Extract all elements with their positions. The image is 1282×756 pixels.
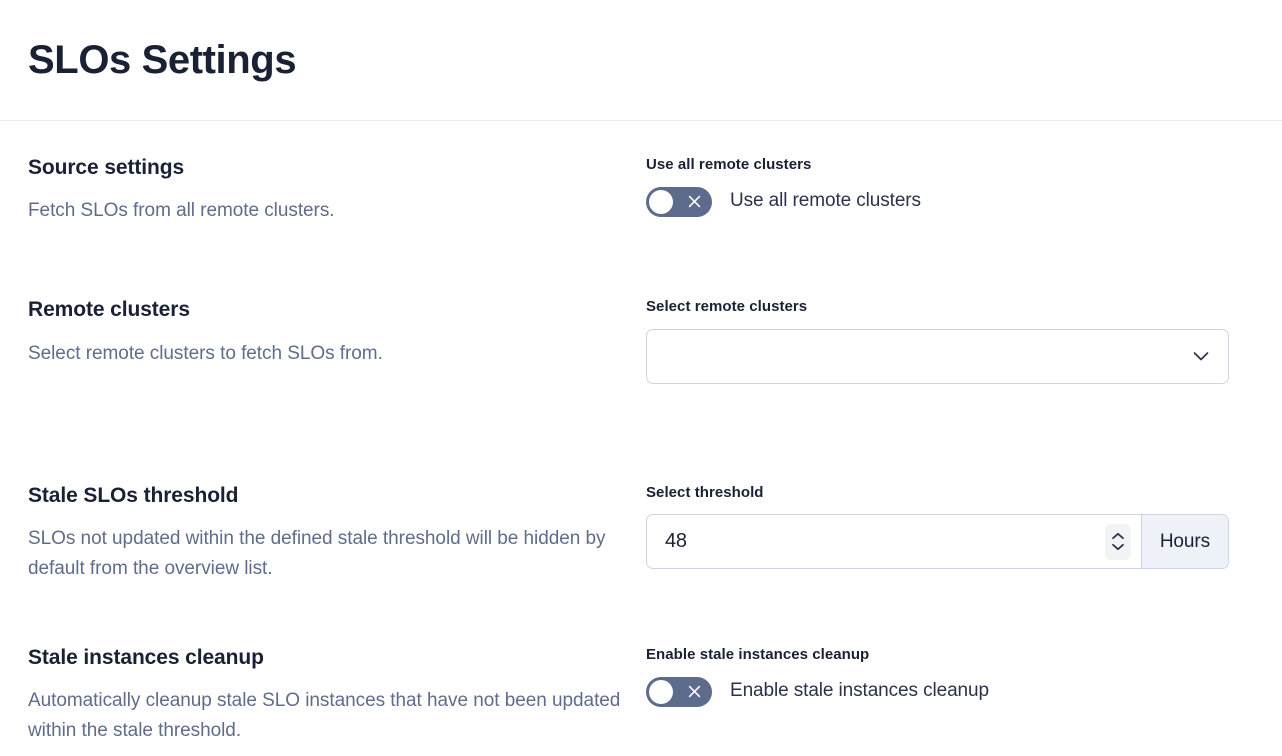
threshold-input-field[interactable] [647, 515, 1105, 568]
section-remote-clusters-control-column: Select remote clusters [646, 297, 1228, 384]
enable-stale-instances-cleanup-toggle-row: Enable stale instances cleanup [646, 677, 1228, 707]
section-stale-slos-threshold: Stale SLOs threshold SLOs not updated wi… [28, 483, 1228, 584]
enable-stale-instances-cleanup-toggle[interactable] [646, 677, 712, 707]
chevron-up-icon[interactable] [1111, 532, 1125, 540]
use-all-remote-clusters-label: Use all remote clusters [646, 155, 1228, 175]
section-source-settings-heading: Source settings [28, 155, 622, 181]
chevron-down-icon[interactable] [1188, 343, 1214, 369]
section-source-settings-description-column: Source settings Fetch SLOs from all remo… [28, 155, 646, 226]
section-source-settings-description: Fetch SLOs from all remote clusters. [28, 196, 622, 226]
section-remote-clusters: Remote clusters Select remote clusters t… [28, 297, 1228, 384]
use-all-remote-clusters-toggle-row: Use all remote clusters [646, 187, 1228, 217]
section-remote-clusters-heading: Remote clusters [28, 297, 622, 323]
use-all-remote-clusters-toggle-text[interactable]: Use all remote clusters [730, 189, 921, 214]
close-x-icon [676, 677, 712, 707]
section-stale-slos-threshold-description-column: Stale SLOs threshold SLOs not updated wi… [28, 483, 646, 584]
section-stale-slos-threshold-heading: Stale SLOs threshold [28, 483, 622, 509]
page-title: SLOs Settings [28, 38, 296, 82]
select-threshold-label: Select threshold [646, 483, 1228, 503]
slos-settings-page: SLOs Settings Source settings Fetch SLOs… [0, 0, 1282, 756]
chevron-down-icon[interactable] [1111, 543, 1125, 551]
threshold-input-group: Hours [646, 514, 1229, 569]
page-header: SLOs Settings [0, 0, 1282, 121]
section-stale-slos-threshold-control-column: Select threshold [646, 483, 1228, 570]
enable-stale-instances-cleanup-toggle-text[interactable]: Enable stale instances cleanup [730, 679, 989, 704]
select-remote-clusters-label: Select remote clusters [646, 297, 1228, 317]
section-stale-slos-threshold-description: SLOs not updated within the defined stal… [28, 524, 622, 584]
settings-content: Source settings Fetch SLOs from all remo… [0, 121, 1282, 746]
threshold-input[interactable] [665, 530, 1105, 553]
toggle-knob [649, 190, 673, 214]
section-source-settings: Source settings Fetch SLOs from all remo… [28, 155, 1228, 226]
section-remote-clusters-description: Select remote clusters to fetch SLOs fro… [28, 339, 622, 369]
section-stale-instances-cleanup: Stale instances cleanup Automatically cl… [28, 645, 1228, 746]
select-remote-clusters-dropdown[interactable] [646, 329, 1229, 384]
section-stale-instances-cleanup-heading: Stale instances cleanup [28, 645, 622, 671]
close-x-icon [676, 187, 712, 217]
threshold-stepper[interactable] [1105, 524, 1131, 560]
section-remote-clusters-description-column: Remote clusters Select remote clusters t… [28, 297, 646, 368]
enable-stale-instances-cleanup-label: Enable stale instances cleanup [646, 645, 1228, 665]
threshold-unit-addon: Hours [1141, 515, 1228, 568]
section-stale-instances-cleanup-control-column: Enable stale instances cleanup Enable st… [646, 645, 1228, 707]
section-stale-instances-cleanup-description: Automatically cleanup stale SLO instance… [28, 686, 622, 746]
use-all-remote-clusters-toggle[interactable] [646, 187, 712, 217]
toggle-knob [649, 680, 673, 704]
section-stale-instances-cleanup-description-column: Stale instances cleanup Automatically cl… [28, 645, 646, 746]
section-source-settings-control-column: Use all remote clusters Use all remote c… [646, 155, 1228, 217]
